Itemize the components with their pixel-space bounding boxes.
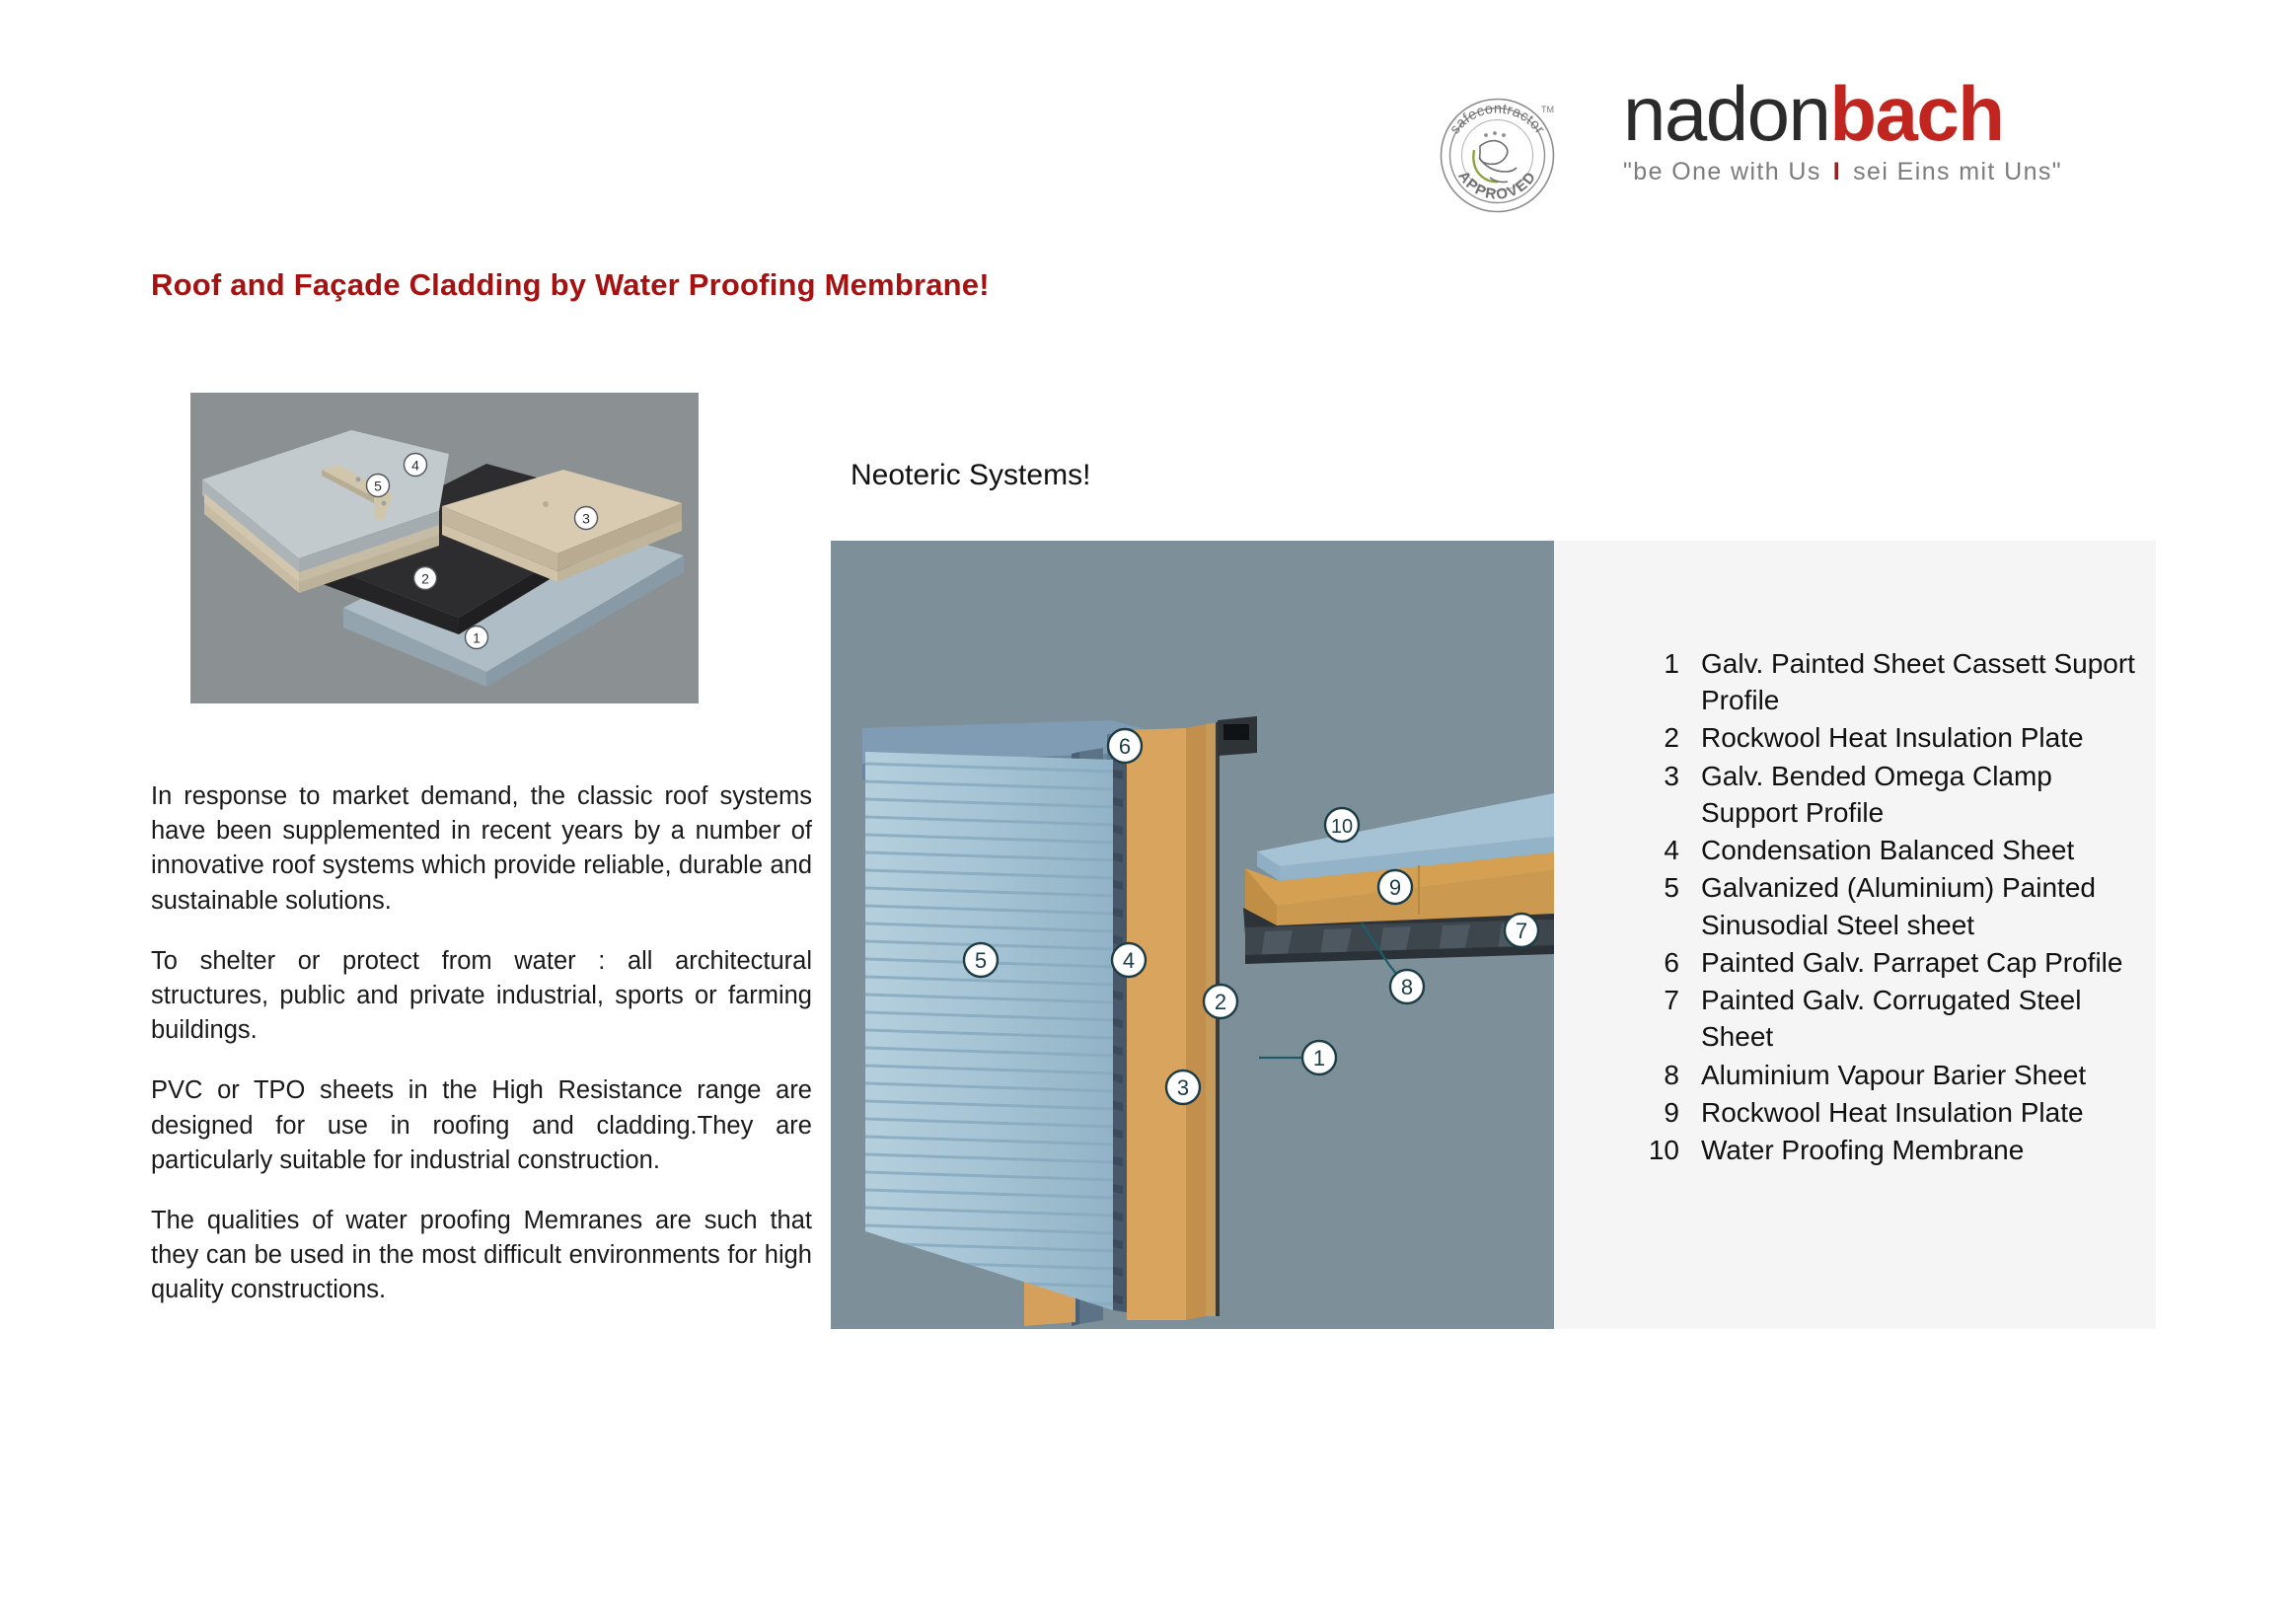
legend-label: Galv. Bended Omega Clamp Support Profile [1701,758,2141,831]
svg-text:APPROVED: APPROVED [1454,168,1540,203]
legend-number: 8 [1648,1057,1701,1093]
callout-badge-2: 2 [1204,985,1237,1018]
legend-item: 6 Painted Galv. Parrapet Cap Profile [1648,944,2141,981]
legend-item: 3 Galv. Bended Omega Clamp Support Profi… [1648,758,2141,831]
section-heading: Neoteric Systems! [851,459,1090,492]
paragraph-3: PVC or TPO sheets in the High Resistance… [151,1073,812,1178]
legend-label: Painted Galv. Parrapet Cap Profile [1701,944,2122,981]
legend-number: 4 [1648,832,1701,868]
facade-roof-detail-illustration: 6 10 9 7 8 5 4 2 [831,541,1554,1329]
legend-item: 4 Condensation Balanced Sheet [1648,832,2141,868]
legend-item: 2 Rockwool Heat Insulation Plate [1648,719,2141,756]
legend-label: Rockwool Heat Insulation Plate [1701,1094,2084,1131]
svg-text:1: 1 [1313,1046,1325,1070]
legend-number: 3 [1648,758,1701,794]
svg-text:9: 9 [1389,875,1401,900]
brand-word-nadon: nadon [1623,70,1829,157]
legend-label: Rockwool Heat Insulation Plate [1701,719,2084,756]
callout-badge-6: 6 [1108,729,1142,763]
paragraph-1: In response to market demand, the classi… [151,779,812,919]
callout-badge-2: 2 [414,567,437,590]
roof-layer-assembly-illustration: 4 5 3 2 1 [190,393,699,703]
legend-label: Condensation Balanced Sheet [1701,832,2074,868]
header-logo-block: safecontractor APPROVED TM nadonbach "be… [1421,69,2200,237]
brand-wordmark: nadonbach [1623,77,2195,150]
legend-item: 5 Galvanized (Aluminium) Painted Sinusod… [1648,869,2141,942]
facade-roof-detail-figure: 6 10 9 7 8 5 4 2 [831,541,1554,1329]
svg-text:1: 1 [473,630,481,646]
legend-number: 9 [1648,1094,1701,1131]
paragraph-4: The qualities of water proofing Memranes… [151,1204,812,1308]
callout-badge-3: 3 [1166,1070,1200,1104]
legend-label: Aluminium Vapour Barier Sheet [1701,1057,2086,1093]
page-title: Roof and Façade Cladding by Water Proofi… [151,267,990,303]
legend-number: 5 [1648,869,1701,906]
legend-item: 10 Water Proofing Membrane [1648,1132,2141,1168]
legend-label: Painted Galv. Corrugated Steel Sheet [1701,982,2141,1055]
callout-badge-10: 10 [1325,808,1359,842]
brand-tagline: "be One with UsIsei Eins mit Uns" [1623,158,2195,186]
legend-number: 2 [1648,719,1701,756]
tagline-english: "be One with Us [1623,158,1821,185]
callout-badge-5: 5 [367,475,390,497]
roof-layer-assembly-figure: 4 5 3 2 1 [190,393,699,703]
callout-badge-1: 1 [1302,1041,1336,1074]
legend-number: 6 [1648,944,1701,981]
paragraph-2: To shelter or protect from water : all a… [151,944,812,1049]
callout-badge-9: 9 [1378,870,1412,904]
svg-text:6: 6 [1119,734,1131,759]
callout-badge-1: 1 [466,627,488,649]
legend-item: 8 Aluminium Vapour Barier Sheet [1648,1057,2141,1093]
svg-text:2: 2 [1215,990,1226,1014]
legend-list: 1 Galv. Painted Sheet Cassett Suport Pro… [1648,645,2141,1169]
tagline-separator: I [1821,158,1853,185]
svg-text:7: 7 [1516,919,1527,943]
legend-number: 1 [1648,645,1701,682]
legend-panel: 1 Galv. Painted Sheet Cassett Suport Pro… [1554,541,2156,1329]
brand-lockup: nadonbach "be One with UsIsei Eins mit U… [1623,77,2195,186]
svg-text:4: 4 [411,458,419,474]
legend-item: 7 Painted Galv. Corrugated Steel Sheet [1648,982,2141,1055]
legend-item: 1 Galv. Painted Sheet Cassett Suport Pro… [1648,645,2141,718]
callout-badge-4: 4 [405,454,427,477]
svg-text:10: 10 [1331,816,1353,838]
legend-number: 10 [1648,1132,1701,1168]
svg-text:5: 5 [975,948,987,973]
callout-badge-5: 5 [964,943,998,977]
callout-badge-7: 7 [1505,914,1538,947]
legend-label: Water Proofing Membrane [1701,1132,2024,1168]
tagline-german: sei Eins mit Uns" [1853,158,2062,185]
callout-badge-4: 4 [1112,943,1146,977]
svg-text:4: 4 [1123,948,1135,973]
legend-number: 7 [1648,982,1701,1018]
svg-text:2: 2 [421,571,429,587]
brand-word-bach: bach [1829,70,2003,157]
callout-badge-8: 8 [1390,970,1424,1003]
svg-text:8: 8 [1401,975,1413,999]
svg-text:5: 5 [374,479,382,494]
body-copy: In response to market demand, the classi… [151,779,812,1307]
legend-item: 9 Rockwool Heat Insulation Plate [1648,1094,2141,1131]
safecontractor-approved-badge: safecontractor APPROVED TM [1431,89,1564,222]
legend-label: Galv. Painted Sheet Cassett Suport Profi… [1701,645,2141,718]
svg-text:3: 3 [1177,1075,1189,1100]
svg-text:TM: TM [1541,105,1554,114]
svg-text:3: 3 [582,511,590,527]
legend-label: Galvanized (Aluminium) Painted Sinusodia… [1701,869,2141,942]
svg-text:safecontractor: safecontractor [1447,101,1548,137]
callout-badge-3: 3 [575,507,598,530]
